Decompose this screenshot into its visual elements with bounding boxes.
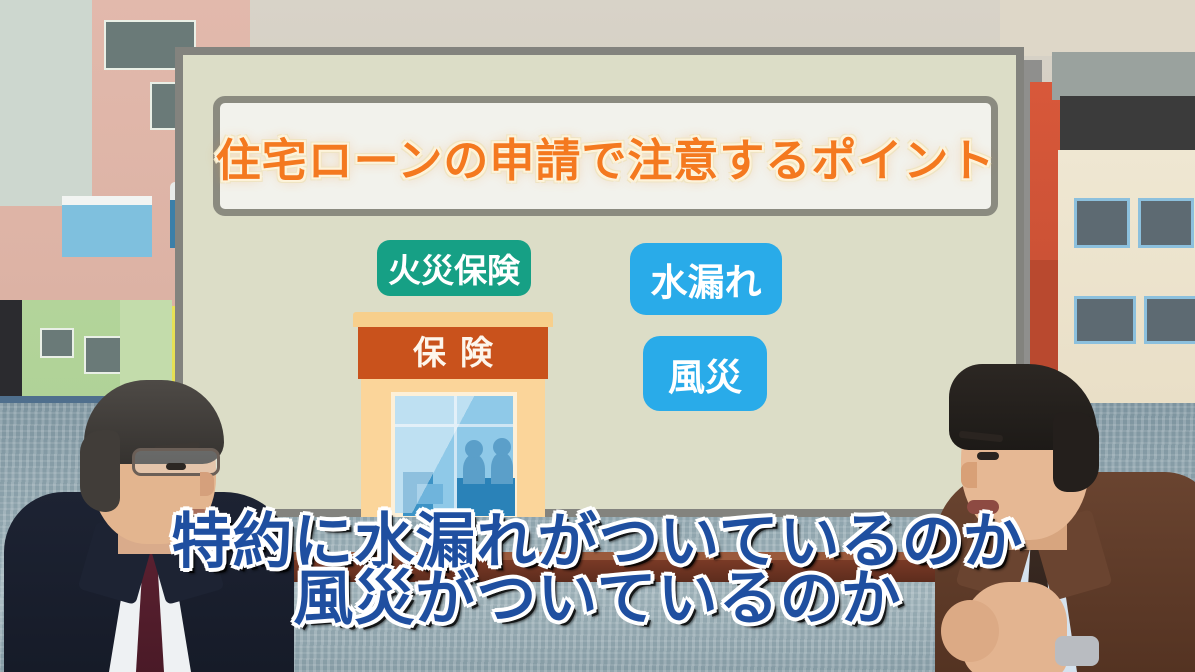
building-top-right xyxy=(1000,0,1195,56)
speaker-right xyxy=(945,350,1195,672)
shop-signboard: 保険 xyxy=(358,327,548,379)
slide-title-box: 住宅ローンの申請で注意するポイント xyxy=(213,96,998,216)
speaker-right-eye xyxy=(977,452,999,460)
speaker-left-mouth xyxy=(180,509,206,514)
speaker-right-nose xyxy=(961,462,977,488)
page-title: 住宅ローンの申請で注意するポイント xyxy=(216,124,996,189)
speaker-left-nose xyxy=(200,472,214,496)
speaker-right-watch xyxy=(1055,636,1099,666)
speaker-left-eye xyxy=(166,463,186,470)
badge-fire-insurance-label: 火災保険 xyxy=(388,244,520,292)
video-frame: 住宅ローンの申請で注意するポイント 火災保険 水漏れ 風災 保険 xyxy=(0,0,1195,672)
speaker-right-mouth xyxy=(967,500,999,514)
roof-right xyxy=(1052,52,1195,100)
speaker-right-sideburn xyxy=(1053,412,1099,492)
shop-window xyxy=(391,392,517,517)
building-gray-left xyxy=(0,0,92,206)
speaker-left-sideburn xyxy=(80,430,120,512)
shop-sign-label: 保険 xyxy=(358,327,548,379)
badge-wind-damage-label: 風災 xyxy=(668,347,742,401)
badge-water-leak-label: 水漏れ xyxy=(651,252,762,306)
shop-eaves xyxy=(353,312,553,327)
balcony-shade-right xyxy=(1060,96,1195,154)
badge-wind-damage[interactable]: 風災 xyxy=(643,336,767,411)
insurance-shop-illustration: 保険 xyxy=(353,312,553,517)
speaker-left xyxy=(14,380,284,672)
badge-fire-insurance[interactable]: 火災保険 xyxy=(377,240,531,296)
water-tank-blue xyxy=(62,196,152,257)
badge-water-leak[interactable]: 水漏れ xyxy=(630,243,782,315)
slide-panel: 住宅ローンの申請で注意するポイント 火災保険 水漏れ 風災 保険 xyxy=(175,47,1024,517)
speaker-right-hand-second xyxy=(941,600,999,662)
